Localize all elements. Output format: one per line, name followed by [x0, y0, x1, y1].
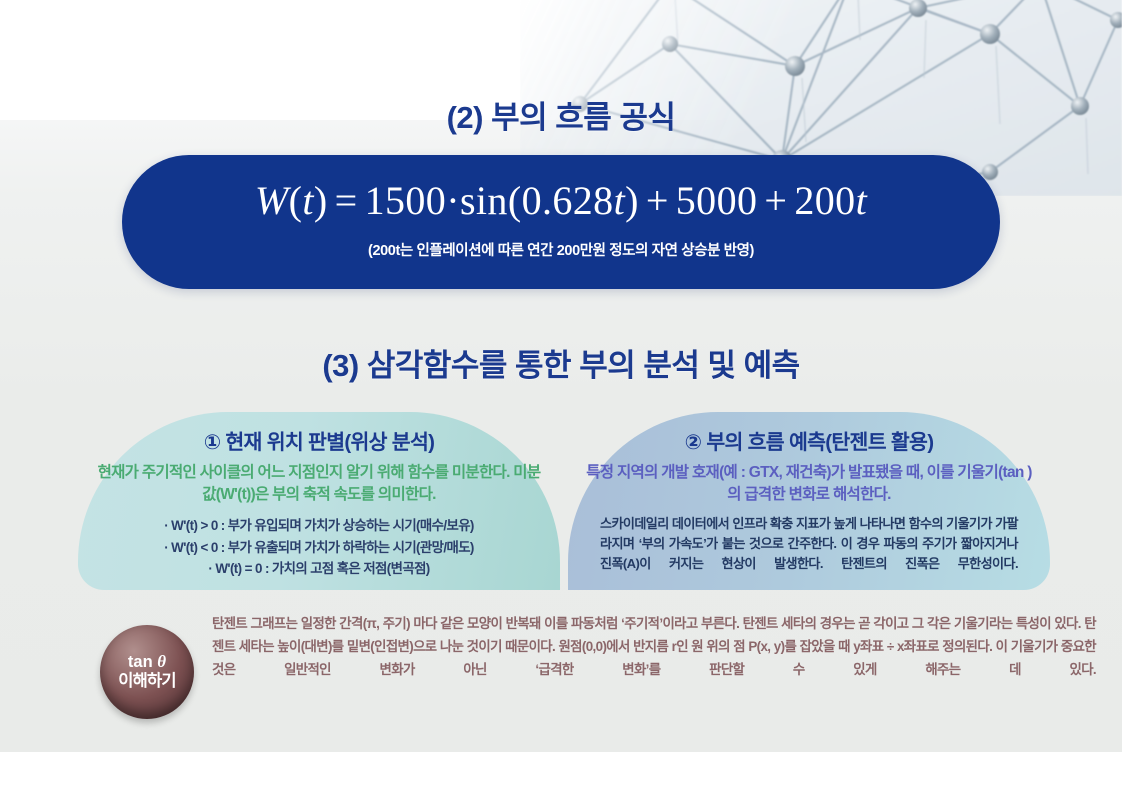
card-2-body: 스카이데일리 데이터에서 인프라 확충 지표가 높게 나타나면 함수의 기울기가…: [600, 514, 1018, 574]
formula-sin: ·sin: [446, 178, 508, 223]
formula-arg-open: (: [508, 178, 522, 223]
formula-arg-close: ): [625, 178, 639, 223]
section-3-title: (3) 삼각함수를 통한 부의 분석 및 예측: [0, 340, 1122, 385]
wealth-formula: W(t)=1500·sin(0.628t)+5000+200t: [255, 181, 867, 221]
formula-plus-2: +: [757, 178, 794, 223]
list-item: · W'(t) > 0 : 부가 유입되며 가치가 상승하는 시기(매수/보유): [92, 515, 546, 537]
card-2-title: ② 부의 흐름 예측(탄젠트 활용): [582, 412, 1036, 455]
theta-symbol: θ: [157, 652, 166, 671]
card-1-bullet-list: · W'(t) > 0 : 부가 유입되며 가치가 상승하는 시기(매수/보유)…: [92, 515, 546, 580]
analysis-card-phase: ① 현재 위치 판별(위상 분석) 현재가 주기적인 사이클의 어느 지점인지 …: [78, 412, 560, 590]
formula-equals: =: [328, 178, 365, 223]
formula-t: t: [302, 178, 314, 223]
formula-paren-close: ): [314, 178, 328, 223]
formula-omega: 0.628: [522, 178, 614, 223]
background-band-bottom: [0, 752, 1122, 793]
card-1-lead: 현재가 주기적인 사이클의 어느 지점인지 알기 위해 함수를 미분한다. 미분…: [92, 462, 546, 506]
analysis-card-forecast: ② 부의 흐름 예측(탄젠트 활용) 특정 지역의 개발 호재(예 : GTX,…: [568, 412, 1050, 590]
tan-theta-badge: tan θ 이해하기: [100, 625, 194, 719]
formula-trend: 200: [794, 178, 855, 223]
badge-line-2: 이해하기: [118, 672, 176, 692]
list-item: · W'(t) = 0 : 가치의 고점 혹은 저점(변곡점): [92, 558, 546, 580]
badge-line-1: tan θ: [128, 652, 166, 672]
tangent-explanation-text: 탄젠트 그래프는 일정한 간격(π, 주기) 마다 같은 모양이 반복돼 이를 …: [212, 612, 1096, 681]
formula-note: (200t는 인플레이션에 따른 연간 200만원 정도의 자연 상승분 반영): [368, 239, 754, 260]
formula-trend-t: t: [856, 178, 868, 223]
formula-base: 5000: [676, 178, 758, 223]
list-item: · W'(t) < 0 : 부가 유출되며 가치가 하락하는 시기(관망/매도): [92, 537, 546, 559]
formula-amplitude: 1500: [365, 178, 447, 223]
formula-plus-1: +: [639, 178, 676, 223]
card-1-title: ① 현재 위치 판별(위상 분석): [92, 412, 546, 455]
formula-pill: W(t)=1500·sin(0.628t)+5000+200t (200t는 인…: [122, 155, 1000, 289]
badge-tan-label: tan: [128, 653, 157, 671]
section-2-title: (2) 부의 흐름 공식: [0, 92, 1122, 137]
card-2-lead: 특정 지역의 개발 호재(예 : GTX, 재건축)가 발표됐을 때, 이를 기…: [582, 462, 1036, 506]
formula-w: W: [255, 178, 289, 223]
formula-paren-open: (: [289, 178, 303, 223]
formula-arg-t: t: [614, 178, 626, 223]
infographic-page: (2) 부의 흐름 공식 W(t)=1500·sin(0.628t)+5000+…: [0, 0, 1122, 793]
